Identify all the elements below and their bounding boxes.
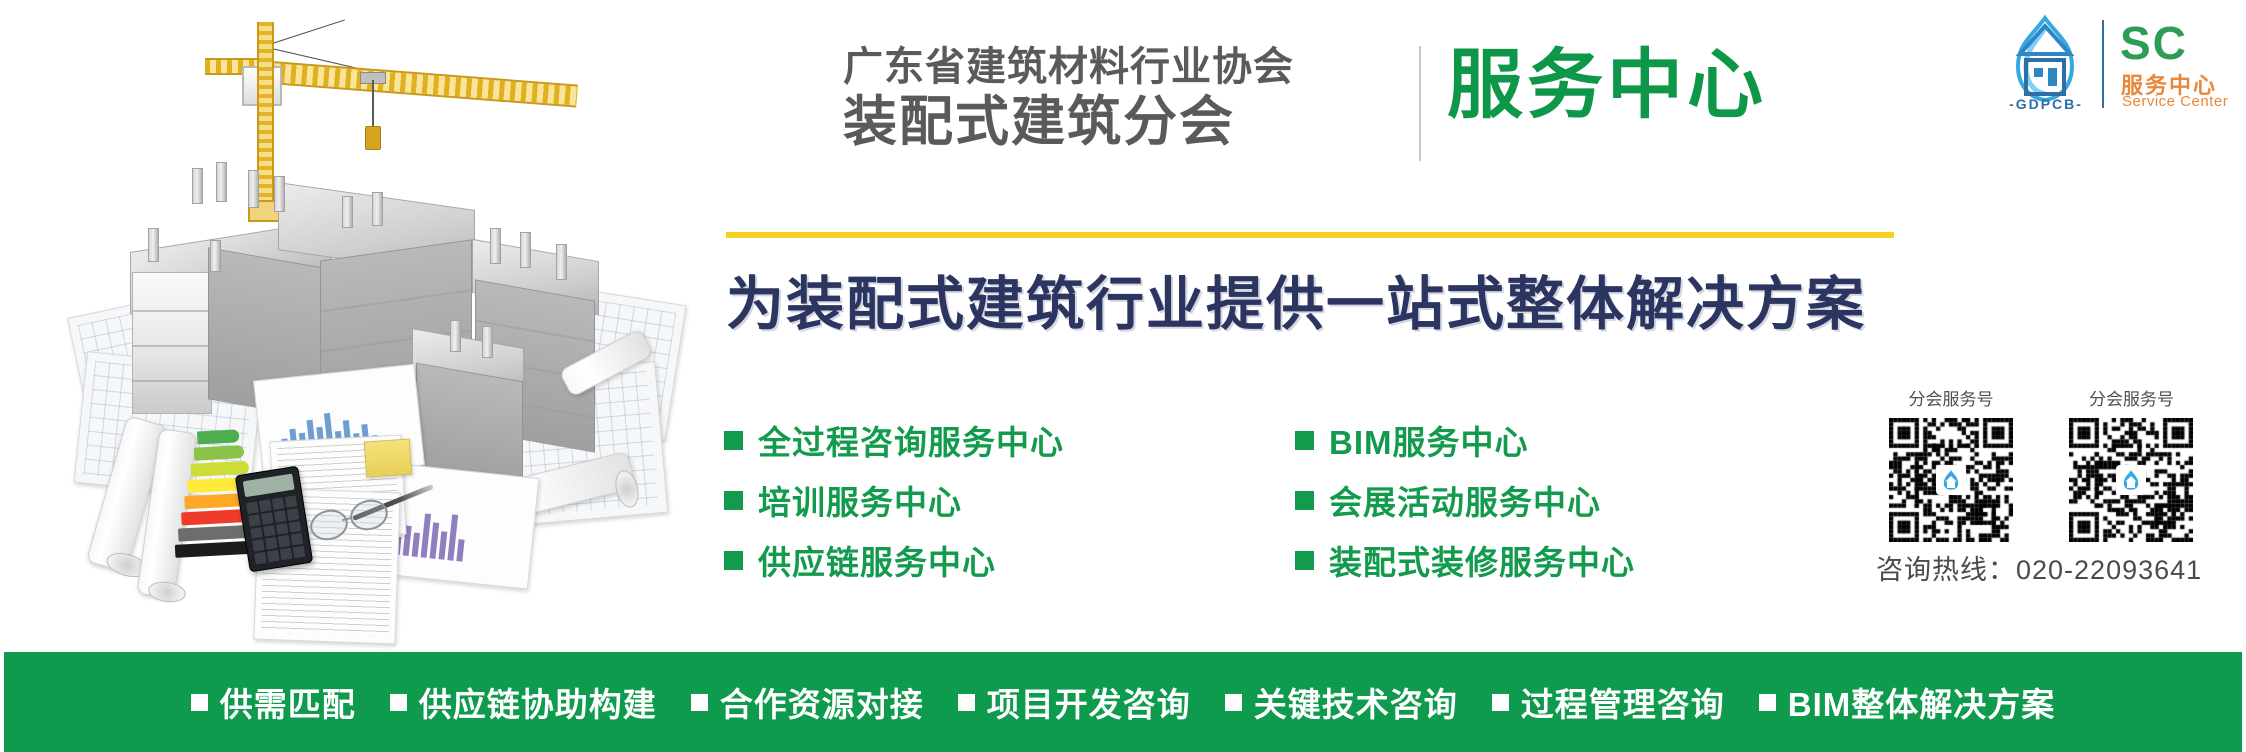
service-label: 供应链服务中心 xyxy=(758,536,996,584)
logo-divider xyxy=(2102,20,2104,108)
logo-en-name: Service Center xyxy=(2122,93,2228,110)
building-floor-line xyxy=(132,310,210,312)
logo[interactable]: -GDPCB- SC 服务中心 Service Center xyxy=(1992,12,2246,116)
logo-abbr: SC xyxy=(2120,20,2188,66)
bottom-bar-label: 供应链协助构建 xyxy=(419,678,657,726)
service-list-left: 全过程咨询服务中心 培训服务中心 供应链服务中心 xyxy=(724,410,1064,590)
page-tagline: 为装配式建筑行业提供一站式整体解决方案 xyxy=(726,257,1866,341)
bottom-bar-item[interactable]: BIM整体解决方案 xyxy=(1759,678,2056,726)
service-label: BIM服务中心 xyxy=(1329,416,1529,464)
rebar-column xyxy=(490,228,501,264)
square-bullet-icon xyxy=(1295,551,1314,570)
hotline-text: 咨询热线：020-22093641 xyxy=(1876,548,2202,587)
bottom-bar-item[interactable]: 供应链协助构建 xyxy=(390,678,657,726)
rebar-column xyxy=(342,196,353,228)
bottom-bar-label: 过程管理咨询 xyxy=(1521,678,1725,726)
crane-mast xyxy=(257,22,274,222)
rebar-column xyxy=(248,170,259,208)
association-name: 广东省建筑材料行业协会 装配式建筑分会 xyxy=(843,47,1403,149)
rebar-column xyxy=(210,240,221,272)
service-label: 培训服务中心 xyxy=(758,476,962,524)
list-item[interactable]: BIM服务中心 xyxy=(1295,410,1635,470)
qr-center-logo xyxy=(1936,465,1966,495)
construction-site-illustration xyxy=(20,0,680,640)
service-list-right: BIM服务中心 会展活动服务中心 装配式装修服务中心 xyxy=(1295,410,1635,590)
qr-label: 分会服务号 xyxy=(1876,385,2026,410)
service-center-title: 服务中心 xyxy=(1447,44,1767,128)
bottom-bar-item[interactable]: 关键技术咨询 xyxy=(1225,678,1458,726)
bottom-bar-item[interactable]: 供需匹配 xyxy=(191,678,356,726)
logo-org-abbr: -GDPCB- xyxy=(1994,96,2098,112)
association-name-line2: 装配式建筑分会 xyxy=(843,95,1403,149)
list-item[interactable]: 会展活动服务中心 xyxy=(1295,470,1635,530)
bottom-bar-label: BIM整体解决方案 xyxy=(1788,678,2056,726)
crane-hook xyxy=(365,126,381,150)
blueprint-roll-end xyxy=(147,579,187,604)
association-name-line1: 广东省建筑材料行业协会 xyxy=(843,47,1403,87)
square-bullet-icon xyxy=(1759,694,1776,711)
qr-code-area: 分会服务号 分会服务号 xyxy=(1876,385,2246,542)
square-bullet-icon xyxy=(724,431,743,450)
qr-label: 分会服务号 xyxy=(2056,385,2206,410)
list-item[interactable]: 装配式装修服务中心 xyxy=(1295,530,1635,590)
rebar-column xyxy=(482,326,493,358)
qr-group: 分会服务号 xyxy=(2056,385,2206,542)
rebar-column xyxy=(556,244,567,280)
square-bullet-icon xyxy=(390,694,407,711)
rebar-column xyxy=(192,168,203,204)
rebar-column xyxy=(450,320,461,352)
building-wall-front-left xyxy=(132,272,212,414)
banner-root: 广东省建筑材料行业协会 装配式建筑分会 服务中心 为装配式建筑行业提供一站式整体… xyxy=(0,0,2246,752)
list-item[interactable]: 全过程咨询服务中心 xyxy=(724,410,1064,470)
crane-jib xyxy=(257,60,578,107)
service-label: 全过程咨询服务中心 xyxy=(758,416,1064,464)
qr-group: 分会服务号 xyxy=(1876,385,2026,542)
rebar-column xyxy=(520,232,531,268)
crane-hook-line xyxy=(372,80,374,128)
sticky-note xyxy=(364,438,412,477)
building-floor-line xyxy=(132,345,210,347)
bottom-bar-item[interactable]: 合作资源对接 xyxy=(691,678,924,726)
bottom-bar-label: 项目开发咨询 xyxy=(987,678,1191,726)
square-bullet-icon xyxy=(724,551,743,570)
list-item[interactable]: 供应链服务中心 xyxy=(724,530,1064,590)
qr-code-image[interactable] xyxy=(1889,418,2013,542)
square-bullet-icon xyxy=(958,694,975,711)
rebar-column xyxy=(216,162,227,202)
building-floor-line xyxy=(132,380,210,382)
bottom-feature-bar: 供需匹配 供应链协助构建 合作资源对接 项目开发咨询 关键技术咨询 过程管理咨询… xyxy=(4,652,2242,752)
square-bullet-icon xyxy=(1225,694,1242,711)
qr-code-image[interactable] xyxy=(2069,418,2193,542)
list-item[interactable]: 培训服务中心 xyxy=(724,470,1064,530)
square-bullet-icon xyxy=(724,491,743,510)
header-vertical-divider xyxy=(1419,46,1421,161)
qr-center-logo xyxy=(2116,465,2146,495)
bottom-bar-item[interactable]: 过程管理咨询 xyxy=(1492,678,1725,726)
service-label: 装配式装修服务中心 xyxy=(1329,536,1635,584)
bottom-bar-label: 关键技术咨询 xyxy=(1254,678,1458,726)
square-bullet-icon xyxy=(691,694,708,711)
bottom-bar-label: 供需匹配 xyxy=(220,678,356,726)
square-bullet-icon xyxy=(1295,431,1314,450)
square-bullet-icon xyxy=(191,694,208,711)
yellow-divider-rule xyxy=(726,232,1894,238)
rebar-column xyxy=(148,228,159,262)
rebar-column xyxy=(372,192,383,226)
service-label: 会展活动服务中心 xyxy=(1329,476,1601,524)
square-bullet-icon xyxy=(1492,694,1509,711)
rebar-column xyxy=(274,176,285,212)
square-bullet-icon xyxy=(1295,491,1314,510)
crane-tie-rear xyxy=(263,19,345,47)
bottom-bar-item[interactable]: 项目开发咨询 xyxy=(958,678,1191,726)
bottom-bar-label: 合作资源对接 xyxy=(720,678,924,726)
